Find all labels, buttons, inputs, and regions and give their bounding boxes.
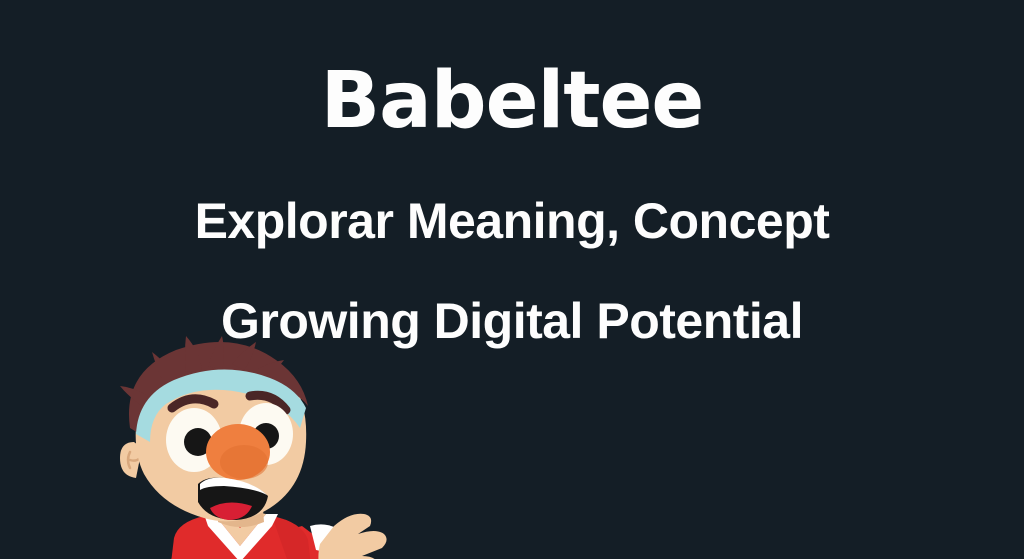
page-title: Babeltee	[0, 62, 1024, 140]
text-stack: Babeltee Explorar Meaning, Concept Growi…	[0, 0, 1024, 380]
promo-banner: Babeltee Explorar Meaning, Concept Growi…	[0, 0, 1024, 559]
mascot-illustration	[58, 330, 388, 559]
cartoon-boy-graphic	[58, 330, 388, 559]
tagline-line-1: Explorar Meaning, Concept	[0, 196, 1024, 246]
mascot-head	[120, 336, 308, 521]
